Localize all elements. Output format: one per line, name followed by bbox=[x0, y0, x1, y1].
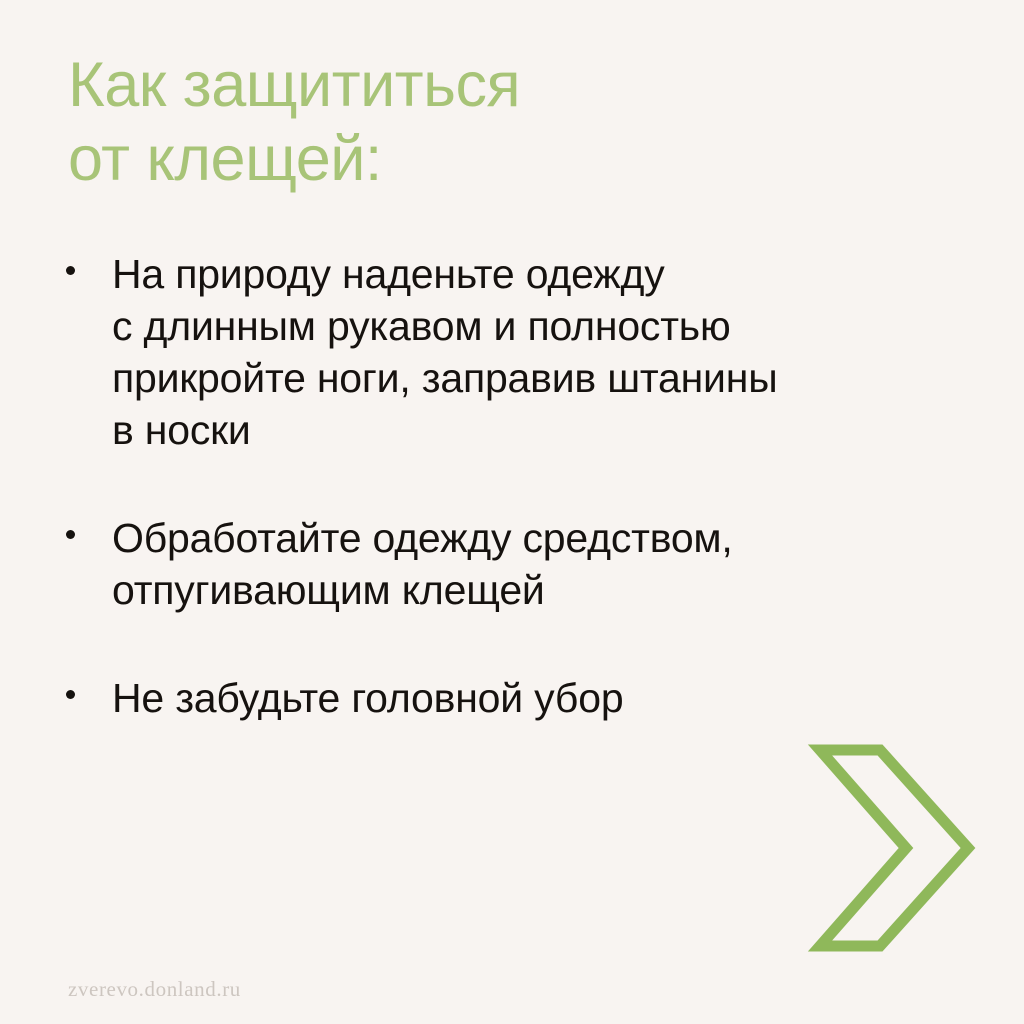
bullet-dot-icon bbox=[66, 512, 112, 539]
bullet-dot-icon bbox=[66, 248, 112, 275]
page-title: Как защититься от клещей: bbox=[68, 48, 828, 196]
list-item: Обработайте одежду средством, отпугивающ… bbox=[66, 512, 966, 616]
site-watermark: zverevo.donland.ru bbox=[68, 977, 241, 1002]
list-item-text: На природу наденьте одежду с длинным рук… bbox=[112, 248, 966, 456]
list-item-text: Обработайте одежду средством, отпугивающ… bbox=[112, 512, 966, 616]
advice-list: На природу наденьте одежду с длинным рук… bbox=[66, 248, 966, 724]
poster-card: Как защититься от клещей: На природу над… bbox=[0, 0, 1024, 1024]
list-item: На природу наденьте одежду с длинным рук… bbox=[66, 248, 966, 456]
bullet-dot-icon bbox=[66, 672, 112, 699]
chevron-right-icon bbox=[806, 740, 976, 956]
list-item-text: Не забудьте головной убор bbox=[112, 672, 966, 724]
list-item: Не забудьте головной убор bbox=[66, 672, 966, 724]
